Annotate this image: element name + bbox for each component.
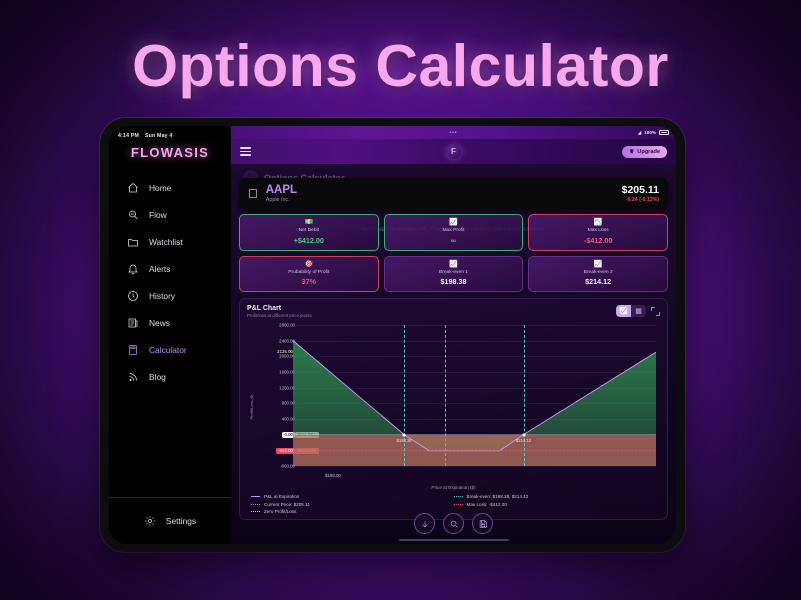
chart-canvas: $198.38 $214.12 <box>293 325 656 466</box>
ticker-symbol: AAPL <box>266 184 297 196</box>
x-tick: $180.00 <box>325 473 341 478</box>
legend-label: Current Price: $205.11 <box>264 502 310 507</box>
battery-icon <box>659 130 669 135</box>
stat-label: Break-even 2 <box>532 270 664 275</box>
sidebar-item-label: Settings <box>166 516 196 526</box>
stat-label: Break-even 1 <box>388 270 520 275</box>
flow-icon <box>127 209 139 221</box>
upgrade-button[interactable]: ♛ Upgrade <box>622 146 667 158</box>
stat-value: $198.38 <box>388 277 520 286</box>
sidebar-item-label: Watchlist <box>149 237 183 247</box>
folder-icon <box>127 236 139 248</box>
stat-value: ∞ <box>388 236 520 245</box>
chart-title: P&L Chart <box>247 305 312 312</box>
sidebar-item-settings[interactable]: Settings <box>109 507 231 534</box>
legend-swatch <box>251 504 260 505</box>
profit-area <box>293 341 656 451</box>
sidebar-item-watchlist[interactable]: Watchlist <box>109 228 231 255</box>
ticker-company: Apple Inc. <box>266 197 297 203</box>
legend-swatch <box>454 504 463 505</box>
ticker-change: -0.24 (-0.12%) <box>622 197 659 203</box>
app-top-bar: F ♛ Upgrade <box>231 139 676 164</box>
stat-label: Max Profit <box>388 228 520 233</box>
sidebar-item-label: History <box>149 291 175 301</box>
loss-area <box>293 435 656 466</box>
chart-line-icon: 📈 <box>388 261 520 268</box>
floppy-icon <box>478 519 488 529</box>
stat-card-break-even-2[interactable]: 📈 Break-even 2 $214.12 <box>528 256 668 293</box>
newspaper-icon <box>127 317 139 329</box>
ticker-identity: AAPL Apple Inc. <box>266 184 297 203</box>
stat-card-max-profit[interactable]: 📈 Max Profit ∞ <box>384 214 524 251</box>
legend-swatch <box>251 511 260 512</box>
pl-chart-card: P&L Chart Profit/loss at different price… <box>239 298 668 520</box>
stat-label: Max Loss <box>532 228 664 233</box>
stat-card-max-loss[interactable]: 📉 Max Loss -$412.00 <box>528 214 668 251</box>
crown-icon: ♛ <box>629 149 634 155</box>
sidebar-item-label: Alerts <box>149 264 170 274</box>
legend-column-right: Break-even: $198.38, $214.12 Max Loss: -… <box>454 494 657 514</box>
magnifier-icon <box>449 519 459 529</box>
stat-value: $214.12 <box>532 277 664 286</box>
calculator-icon <box>127 344 139 356</box>
page-title: Options Calculator <box>0 32 801 100</box>
stat-value: -$412.00 <box>532 236 664 245</box>
sidebar-item-label: Flow <box>149 210 167 220</box>
sidebar-item-calculator[interactable]: Calculator <box>109 336 231 363</box>
trend-down-icon: 📉 <box>532 219 664 226</box>
sidebar-item-flow[interactable]: Flow <box>109 201 231 228</box>
stat-label: Net Debit <box>243 228 375 233</box>
stat-card-probability-of-profit[interactable]: 🎯 Probability of Profit 37% <box>239 256 379 293</box>
status-time: 4:14 PM <box>118 133 139 139</box>
app-main-area: ••• ◢ 100% F ♛ Upgrade Options Calc <box>231 126 676 544</box>
clock-icon <box>127 290 139 302</box>
sidebar-item-alerts[interactable]: Alerts <box>109 255 231 282</box>
break-even-1-marker <box>403 433 406 436</box>
trend-up-icon: 📈 <box>388 219 520 226</box>
sidebar-nav: Home Flow Watchlist Alerts History <box>109 174 231 497</box>
apple-icon:  <box>248 187 258 200</box>
chart-header: P&L Chart Profit/loss at different price… <box>247 305 660 318</box>
stat-value: 37% <box>243 277 375 286</box>
hamburger-icon[interactable] <box>240 147 251 155</box>
search-button[interactable] <box>443 513 464 534</box>
download-button[interactable] <box>414 513 435 534</box>
break-even-1-line <box>404 325 405 466</box>
chart-titles: P&L Chart Profit/loss at different price… <box>247 305 312 318</box>
app-content: Options Calculator No saved strategies y… <box>231 164 676 544</box>
legend-swatch <box>251 496 260 497</box>
save-button[interactable] <box>472 513 493 534</box>
stat-value: +$412.00 <box>243 236 375 245</box>
legend-label: P&L at Expiration <box>264 494 299 499</box>
stat-label: Probability of Profit <box>243 270 375 275</box>
sidebar-item-label: Home <box>149 183 171 193</box>
device-status-bar: 4:14 PM Sun May 4 <box>109 131 231 139</box>
y-axis-ticks: 2800.00 2400.00 2135.00 2000.00 1600.00 … <box>249 325 295 466</box>
app-logo[interactable]: F <box>447 145 461 159</box>
wifi-icon: ◢ <box>638 130 642 136</box>
legend-label: Break-even: $198.38, $214.12 <box>467 494 529 499</box>
sidebar: 4:14 PM Sun May 4 FLOWASIS Home Flow Wat… <box>109 126 231 544</box>
break-even-2-label: $214.12 <box>516 438 531 443</box>
legend-item: Current Price: $205.11 <box>251 502 454 507</box>
sidebar-item-blog[interactable]: Blog <box>109 363 231 390</box>
chart-line-icon: 📈 <box>532 261 664 268</box>
status-dots-icon: ••• <box>449 130 457 136</box>
status-date: Sun May 4 <box>145 133 172 139</box>
stat-card-net-debit[interactable]: 💵 Net Debit +$412.00 <box>239 214 379 251</box>
legend-label: Max Loss: -$412.00 <box>467 502 507 507</box>
sidebar-item-label: News <box>149 318 170 328</box>
bottom-action-bar <box>231 513 676 534</box>
sidebar-item-home[interactable]: Home <box>109 174 231 201</box>
money-icon: 💵 <box>243 219 375 226</box>
break-even-2-marker <box>522 433 525 436</box>
chart-plot-area: Profit/Loss ($) 2800.00 2400.00 2135.00 … <box>247 321 660 492</box>
chart-tools: 📈 ▦ <box>616 305 660 317</box>
sidebar-footer: Settings <box>109 497 231 544</box>
home-indicator <box>399 539 509 542</box>
chart-legend: P&L at Expiration Current Price: $205.11… <box>247 494 660 514</box>
tablet-device-frame: 4:14 PM Sun May 4 FLOWASIS Home Flow Wat… <box>100 118 685 552</box>
legend-item: P&L at Expiration <box>251 494 454 499</box>
chart-view-toggle[interactable]: 📈 ▦ <box>616 305 646 317</box>
legend-item: Max Loss: -$412.00 <box>454 502 657 507</box>
ticker-price: $205.11 <box>622 184 659 196</box>
sidebar-item-news[interactable]: News <box>109 309 231 336</box>
legend-swatch <box>454 496 463 497</box>
sidebar-item-label: Calculator <box>149 345 187 355</box>
stat-card-break-even-1[interactable]: 📈 Break-even 1 $198.38 <box>384 256 524 293</box>
ticker-quote: $205.11 -0.24 (-0.12%) <box>622 184 659 203</box>
legend-column-left: P&L at Expiration Current Price: $205.11… <box>251 494 454 514</box>
target-icon: 🎯 <box>243 261 375 268</box>
ticker-card[interactable]:  AAPL Apple Inc. $205.11 -0.24 (-0.12%) <box>239 178 668 209</box>
bell-icon <box>127 263 139 275</box>
stats-grid: 💵 Net Debit +$412.00 📈 Max Profit ∞ 📉 Ma… <box>239 214 668 292</box>
chart-subtitle: Profit/loss at different price points <box>247 313 312 318</box>
chart-view-icon[interactable]: 📈 <box>616 305 631 317</box>
tablet-screen: 4:14 PM Sun May 4 FLOWASIS Home Flow Wat… <box>109 126 676 544</box>
pl-curve <box>293 325 656 466</box>
app-status-bar: ••• ◢ 100% <box>231 126 676 139</box>
current-price-line <box>445 325 446 466</box>
gear-icon <box>144 515 156 527</box>
status-right-info: ◢ 100% <box>638 130 669 136</box>
break-even-2-line <box>524 325 525 466</box>
rss-icon <box>127 371 139 383</box>
expand-icon[interactable] <box>651 307 660 316</box>
break-even-1-label: $198.38 <box>396 438 411 443</box>
x-axis-title: Price at Expiration ($) <box>247 485 660 490</box>
sidebar-item-label: Blog <box>149 372 166 382</box>
legend-item: Break-even: $198.38, $214.12 <box>454 494 657 499</box>
table-view-icon[interactable]: ▦ <box>631 305 646 317</box>
battery-percent: 100% <box>644 130 656 135</box>
gridline <box>293 466 656 467</box>
sidebar-item-history[interactable]: History <box>109 282 231 309</box>
home-icon <box>127 182 139 194</box>
upgrade-label: Upgrade <box>637 149 660 155</box>
app-brand-logo: FLOWASIS <box>109 145 231 160</box>
arrow-down-icon <box>420 519 430 529</box>
